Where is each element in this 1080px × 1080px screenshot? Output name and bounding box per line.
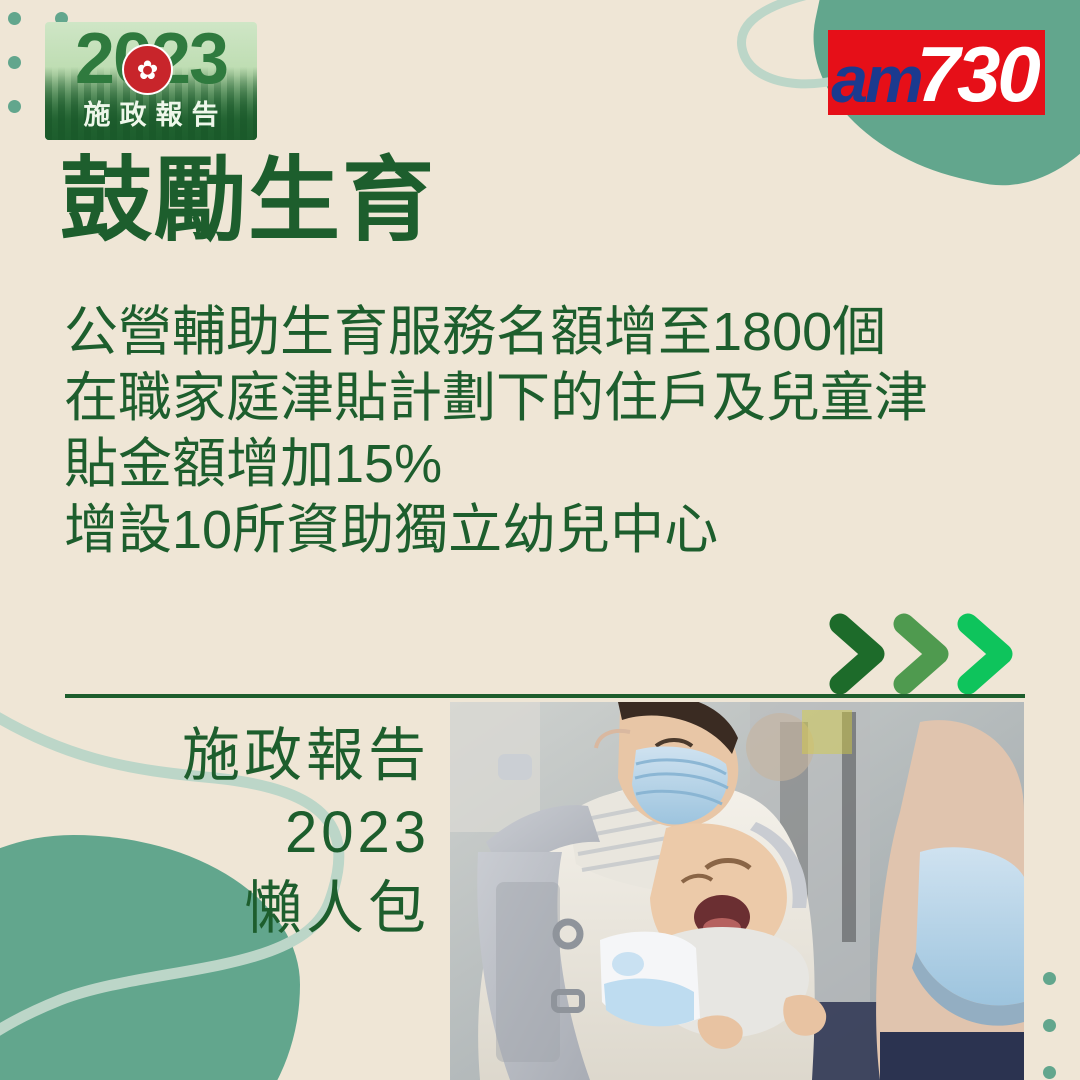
- photo-illustration: [450, 702, 1024, 1080]
- chevron-right-icon: [828, 612, 1028, 696]
- footer-branding: 施政報告 2023 懶人包: [120, 718, 430, 948]
- decor-dot: [8, 100, 21, 113]
- policy-line-3: 貼金額增加15%: [64, 432, 1024, 498]
- policy-line-4: 增設10所資助獨立幼兒中心: [64, 498, 1024, 564]
- policy-points: 公營輔助生育服務名額增至1800個 在職家庭津貼計劃下的住戶及兒童津 貼金額增加…: [64, 300, 1024, 564]
- am730-prefix: am: [831, 52, 920, 106]
- page-title: 鼓勵生育: [60, 155, 436, 247]
- am730-number: 730: [917, 43, 1038, 107]
- decor-dot: [1043, 972, 1056, 985]
- footer-line-3: 懶人包: [120, 871, 430, 948]
- section-divider: [65, 694, 1025, 698]
- decor-dot: [2, 1066, 15, 1079]
- policy-line-2: 在職家庭津貼計劃下的住戶及兒童津: [64, 366, 1024, 432]
- footer-line-2: 2023: [120, 795, 430, 872]
- bauhinia-emblem-icon: ✿: [122, 44, 173, 95]
- feature-photo: [450, 702, 1024, 1080]
- decor-dot: [8, 56, 21, 69]
- footer-line-1: 施政報告: [120, 718, 430, 795]
- policy-line-1: 公營輔助生育服務名額增至1800個: [64, 300, 1024, 366]
- decor-dot: [1043, 1019, 1056, 1032]
- chevron-group: [828, 612, 1028, 696]
- poster-canvas: 2023 ✿ 施政報告 am730 鼓勵生育 公營輔助生育服務名額增至1800個…: [0, 0, 1080, 1080]
- decor-dot: [8, 12, 21, 25]
- policy-address-logo: 2023 ✿ 施政報告: [45, 22, 257, 140]
- policy-logo-subtitle: 施政報告: [45, 93, 257, 132]
- decor-dot: [1043, 1066, 1056, 1079]
- am730-logo[interactable]: am730: [828, 30, 1045, 115]
